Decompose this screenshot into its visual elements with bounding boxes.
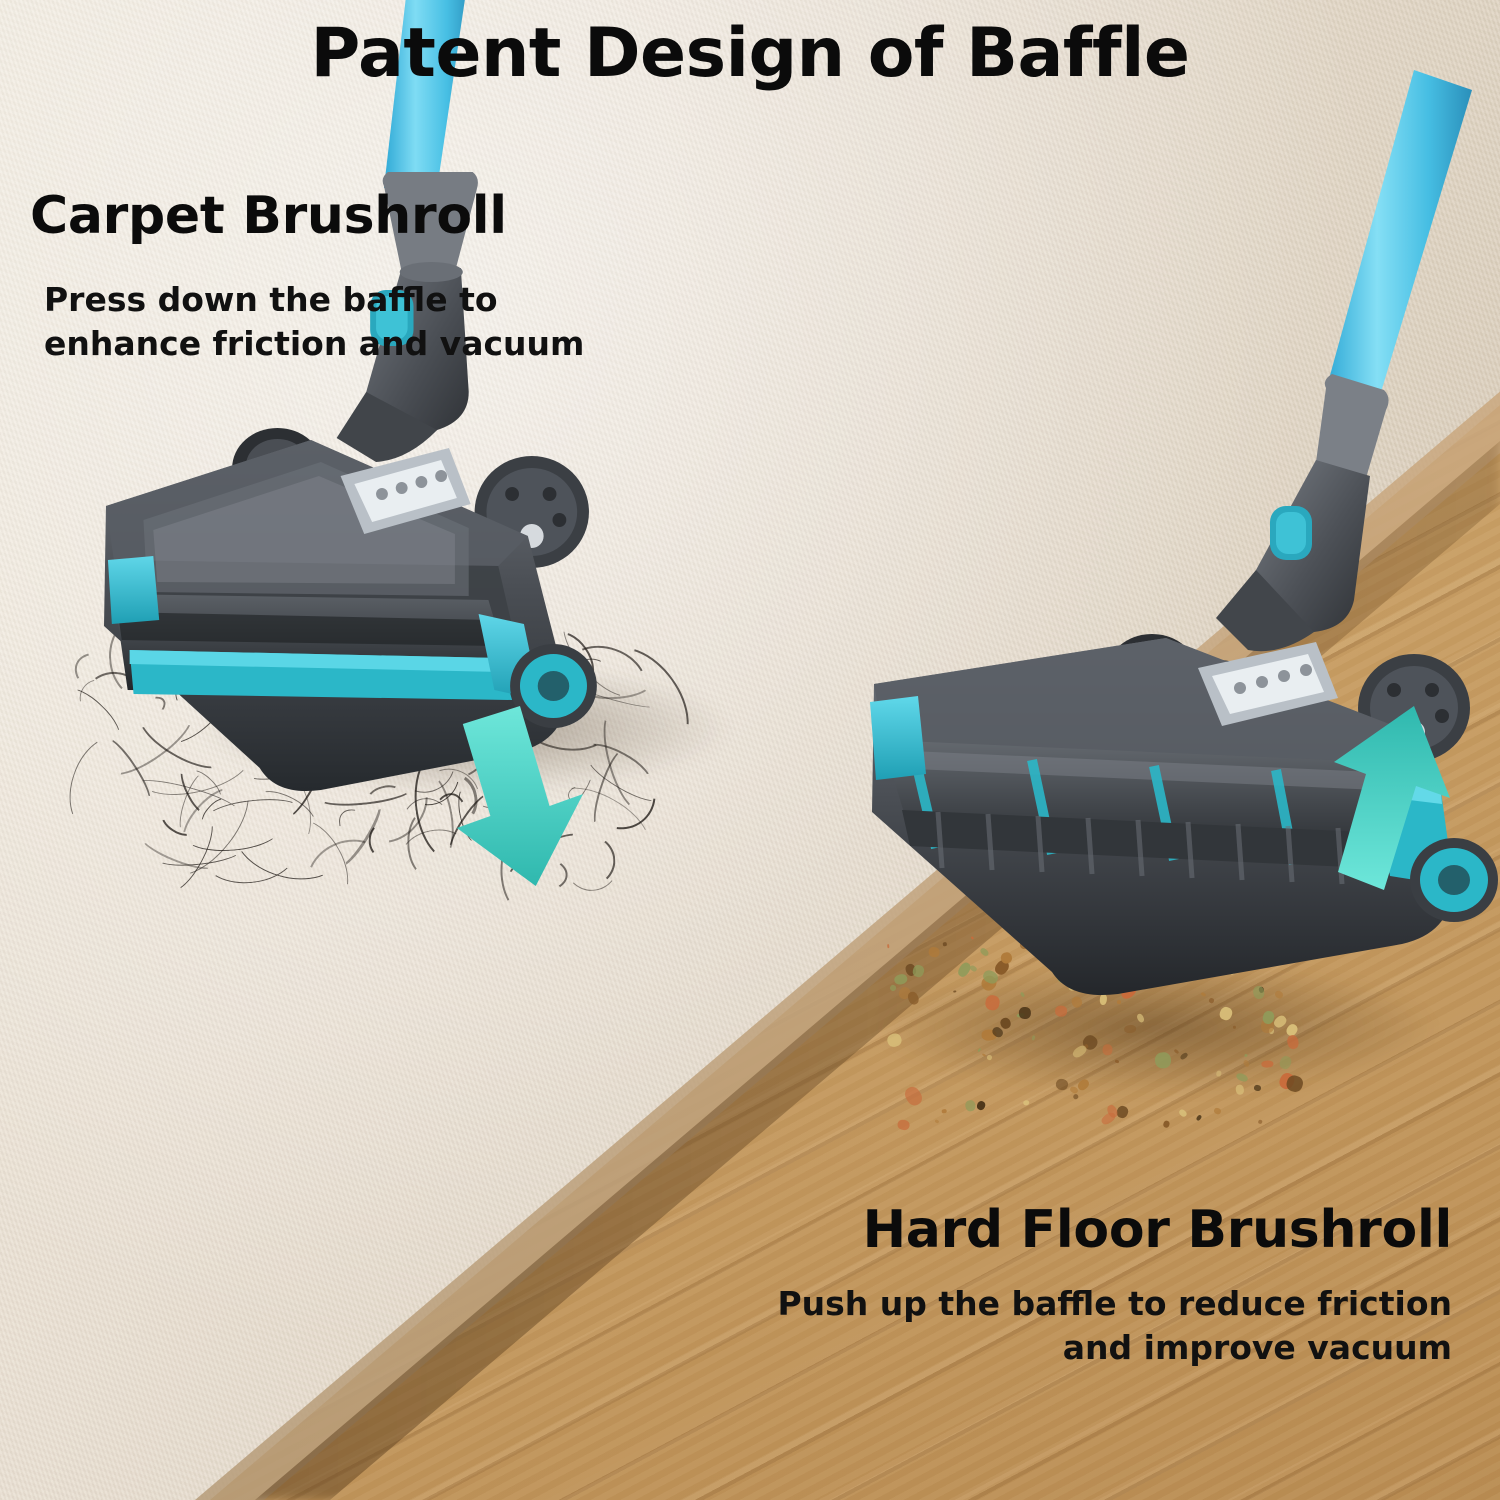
vacuum-head-carpet xyxy=(173,0,863,840)
carpet-section-heading: Carpet Brushroll xyxy=(30,186,507,246)
side-wheel-hub xyxy=(1410,838,1498,922)
brushroll-and-baffle-down xyxy=(113,594,515,700)
carpet-section-description: Press down the baffle toenhance friction… xyxy=(44,278,684,365)
baffle-strip xyxy=(129,650,511,700)
power-button[interactable] xyxy=(1270,506,1312,560)
page-title: Patent Design of Baffle xyxy=(0,18,1500,89)
hardfloor-section-heading: Hard Floor Brushroll xyxy=(863,1200,1452,1260)
vacuum-head-hardfloor xyxy=(818,270,1500,1170)
hardfloor-section-description: Push up the baffle to reduce frictionand… xyxy=(662,1282,1452,1369)
product-feature-poster: Patent Design of Baffle Carpet Brushroll… xyxy=(0,0,1500,1500)
side-wheel-hub xyxy=(510,644,597,728)
